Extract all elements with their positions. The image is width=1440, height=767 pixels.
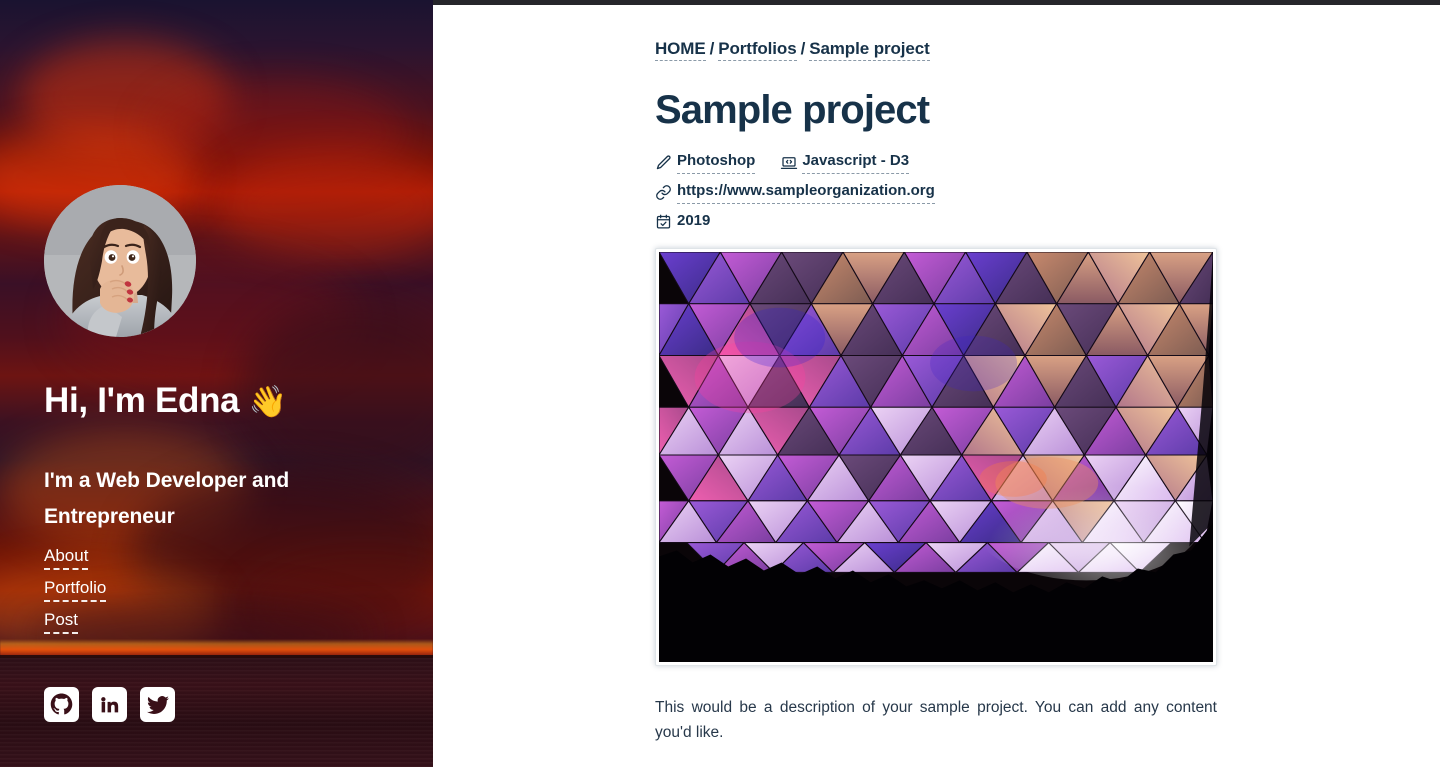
social-links	[44, 687, 175, 722]
meta-tech-group: Javascript - D3	[780, 151, 909, 174]
meta-date-value: 2019	[677, 211, 710, 231]
linkedin-icon	[99, 694, 120, 715]
linkedin-link[interactable]	[92, 687, 127, 722]
breadcrumb-separator: /	[706, 38, 719, 60]
page-root: Hi, I'm Edna 👋 I'm a Web Developer and E…	[0, 0, 1440, 767]
project-description: This would be a description of your samp…	[655, 695, 1217, 745]
browser-top-strip	[433, 0, 1440, 5]
sidebar-nav-portfolio[interactable]: Portfolio	[44, 577, 106, 602]
meta-row-date: 2019	[655, 211, 1217, 231]
main-content: HOME/Portfolios/Sample project Sample pr…	[433, 0, 1440, 767]
github-icon	[50, 693, 73, 716]
meta-row-tools: Photoshop Javascript - D3	[655, 151, 1217, 174]
geodesic-dome-illustration	[659, 252, 1213, 662]
tagline: I'm a Web Developer and Entrepreneur	[44, 463, 384, 535]
greeting-text: Hi, I'm Edna	[44, 381, 239, 420]
breadcrumb-separator: /	[797, 38, 810, 60]
pencil-icon	[655, 154, 677, 171]
twitter-link[interactable]	[140, 687, 175, 722]
breadcrumb-item-home[interactable]: HOME	[655, 39, 706, 61]
sidebar-nav-about[interactable]: About	[44, 545, 88, 570]
breadcrumb-item-current[interactable]: Sample project	[809, 39, 929, 61]
sidebar-content: Hi, I'm Edna 👋 I'm a Web Developer and E…	[0, 0, 433, 767]
project-meta: Photoshop Javascript - D3	[655, 151, 1217, 231]
meta-tool-value[interactable]: Photoshop	[677, 151, 755, 174]
breadcrumb: HOME/Portfolios/Sample project	[655, 38, 1217, 60]
project-title: Sample project	[655, 86, 1217, 134]
sidebar: Hi, I'm Edna 👋 I'm a Web Developer and E…	[0, 0, 433, 767]
sidebar-nav-post[interactable]: Post	[44, 609, 78, 634]
project-image	[655, 248, 1217, 666]
twitter-icon	[147, 694, 169, 716]
waving-hand-icon: 👋	[249, 384, 287, 419]
meta-tech-value[interactable]: Javascript - D3	[802, 151, 909, 174]
link-icon	[655, 184, 677, 201]
meta-row-link: https://www.sampleorganization.org	[655, 181, 1217, 204]
content-column: HOME/Portfolios/Sample project Sample pr…	[655, 0, 1217, 745]
avatar	[44, 185, 196, 337]
calendar-check-icon	[655, 213, 677, 230]
sidebar-nav: About Portfolio Post	[44, 545, 106, 634]
github-link[interactable]	[44, 687, 79, 722]
laptop-code-icon	[780, 154, 802, 172]
page-title: Hi, I'm Edna 👋	[44, 381, 287, 421]
breadcrumb-item-portfolios[interactable]: Portfolios	[718, 39, 796, 61]
meta-project-url[interactable]: https://www.sampleorganization.org	[677, 181, 935, 204]
